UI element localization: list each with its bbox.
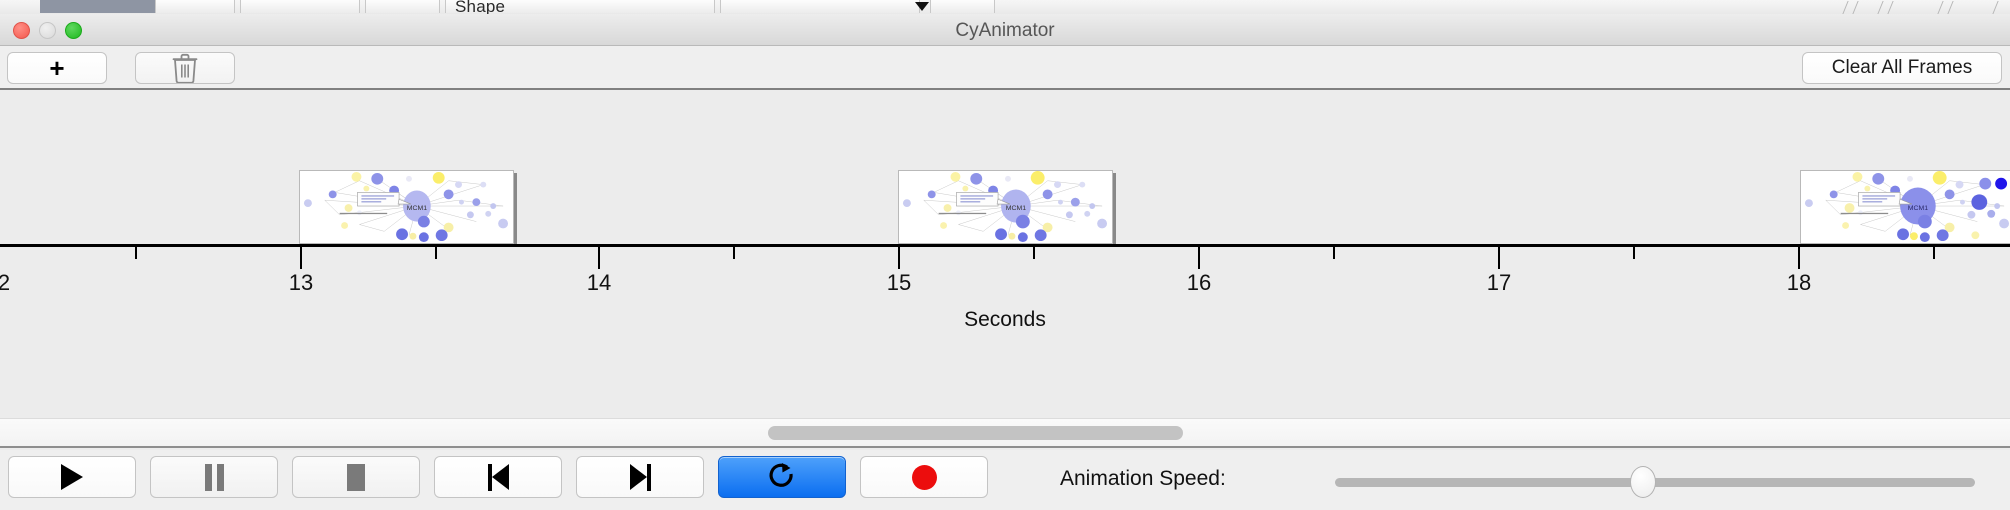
resize-grip-icon xyxy=(1992,1,1998,14)
axis-tick-label: 18 xyxy=(1787,270,1811,296)
delete-frame-button[interactable] xyxy=(135,52,235,84)
animation-speed-label: Animation Speed: xyxy=(1060,467,1226,491)
background-tab-selected xyxy=(40,0,155,13)
axis-tick-label: 16 xyxy=(1187,270,1211,296)
axis-minor-tick xyxy=(1333,247,1335,259)
pause-button[interactable] xyxy=(150,456,278,498)
axis-minor-tick xyxy=(135,247,137,259)
axis-minor-tick xyxy=(733,247,735,259)
axis-minor-tick xyxy=(435,247,437,259)
timeline-scrollbar-track[interactable] xyxy=(0,418,2010,448)
stop-button[interactable] xyxy=(292,456,420,498)
background-shape-label: Shape xyxy=(455,0,505,14)
pause-icon xyxy=(205,464,224,491)
stop-icon xyxy=(347,464,365,491)
resize-grip-icon xyxy=(1852,1,1858,14)
axis-major-tick xyxy=(1498,247,1500,269)
timeline-frame-thumbnail[interactable]: MCM1 xyxy=(299,170,514,244)
axis-major-tick xyxy=(898,247,900,269)
resize-grip-icon xyxy=(1877,1,1883,14)
record-button[interactable] xyxy=(860,456,988,498)
window-title: CyAnimator xyxy=(0,20,2010,42)
next-frame-button[interactable] xyxy=(576,456,704,498)
add-frame-button[interactable]: + xyxy=(7,52,107,84)
plus-icon: + xyxy=(49,55,64,81)
play-button[interactable] xyxy=(8,456,136,498)
axis-major-tick xyxy=(598,247,600,269)
axis-tick-label: 15 xyxy=(887,270,911,296)
background-segment xyxy=(155,0,235,13)
axis-major-tick xyxy=(1798,247,1800,269)
axis-tick-label: 17 xyxy=(1487,270,1511,296)
record-icon xyxy=(912,465,937,490)
window-titlebar[interactable]: CyAnimator xyxy=(0,14,2010,46)
trash-icon xyxy=(172,53,198,83)
axis-tick-label: 13 xyxy=(289,270,313,296)
axis-minor-tick xyxy=(1033,247,1035,259)
skip-forward-icon xyxy=(630,464,651,491)
background-segment xyxy=(720,0,920,13)
frames-toolbar: + Clear All Frames xyxy=(0,46,2010,90)
loop-button[interactable] xyxy=(718,456,846,498)
background-segment xyxy=(365,0,440,13)
resize-grip-icon xyxy=(1937,1,1943,14)
cyanimator-window: Shape CyAnimator + xyxy=(0,0,2010,510)
axis-tick-label: 2 xyxy=(0,270,10,296)
animation-speed-slider-knob[interactable] xyxy=(1630,466,1656,498)
background-dropdown-caret-icon xyxy=(915,2,929,11)
timeline-panel[interactable]: MCM1 xyxy=(0,90,2010,418)
play-icon xyxy=(61,464,83,490)
loop-icon xyxy=(767,461,797,493)
clear-all-frames-button[interactable]: Clear All Frames xyxy=(1802,52,2002,84)
svg-text:MCM1: MCM1 xyxy=(1908,205,1929,212)
axis-minor-tick xyxy=(1633,247,1635,259)
axis-caption: Seconds xyxy=(0,308,2010,332)
axis-minor-tick xyxy=(1933,247,1935,259)
timeline-frame-thumbnail[interactable]: MCM1 xyxy=(1800,170,2010,244)
timeline-frame-thumbnail[interactable]: MCM1 xyxy=(898,170,1113,244)
prev-frame-button[interactable] xyxy=(434,456,562,498)
svg-text:MCM1: MCM1 xyxy=(407,205,428,212)
axis-major-tick xyxy=(300,247,302,269)
axis-tick-label: 14 xyxy=(587,270,611,296)
clear-all-frames-label: Clear All Frames xyxy=(1832,57,1972,79)
transport-bar: Animation Speed: xyxy=(0,450,2010,510)
svg-text:MCM1: MCM1 xyxy=(1006,205,1027,212)
resize-grip-icon xyxy=(1887,1,1893,14)
resize-grip-icon xyxy=(1947,1,1953,14)
skip-back-icon xyxy=(488,464,509,491)
resize-grip-icon xyxy=(1842,1,1848,14)
timeline-scrollbar-thumb[interactable] xyxy=(768,426,1183,440)
background-segment xyxy=(240,0,360,13)
background-window-strip: Shape xyxy=(0,0,2010,14)
background-segment xyxy=(930,0,995,13)
axis-major-tick xyxy=(1198,247,1200,269)
